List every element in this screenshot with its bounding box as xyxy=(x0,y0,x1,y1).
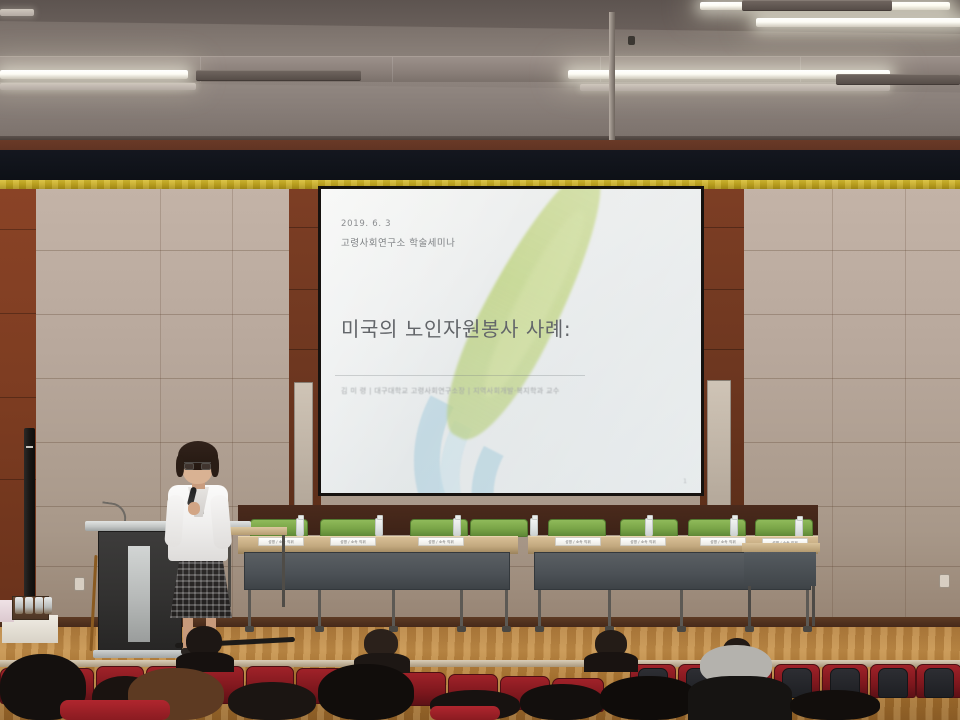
side-desk-panel xyxy=(744,552,816,586)
ceiling-vent xyxy=(196,70,361,81)
slide-surface: 2019. 6. 3 고령사회연구소 학술세미나 미국의 노인자원봉사 사례: … xyxy=(321,189,701,493)
ceiling-vent xyxy=(836,74,960,85)
presenter-hair xyxy=(211,455,219,477)
presenter-arm xyxy=(164,494,185,547)
water-bottle xyxy=(453,518,461,537)
slide-page-number: 1 xyxy=(683,478,687,485)
panel-chair xyxy=(755,519,813,537)
projection-screen: 2019. 6. 3 고령사회연구소 학술세미나 미국의 노인자원봉사 사례: … xyxy=(318,186,704,496)
slide-event-name: 고령사회연구소 학술세미나 xyxy=(341,235,455,249)
presenter-hair xyxy=(176,455,184,477)
auditorium-photo: 2019. 6. 3 고령사회연구소 학술세미나 미국의 노인자원봉사 사례: … xyxy=(0,0,960,720)
ceiling-light-fixture xyxy=(0,83,196,90)
slide-divider xyxy=(335,375,585,376)
panel-chair xyxy=(548,519,606,537)
podium-front-panel xyxy=(128,546,150,642)
podium-base xyxy=(93,650,187,658)
presenter-skirt xyxy=(170,556,232,618)
name-placard: 성명 / 소속 직위 xyxy=(620,537,666,546)
water-bottle xyxy=(375,518,383,537)
slide-title: 미국의 노인자원봉사 사례: xyxy=(341,313,571,342)
slide-byline: 김 미 령 | 대구대학교 고령사회연구소장 | 지역사회개발·복지학과 교수 xyxy=(341,386,560,396)
water-bottle xyxy=(645,518,653,537)
pa-speaker-tower xyxy=(24,428,35,614)
name-placard: 성명 / 소속 직위 xyxy=(555,537,601,546)
eyeglasses-icon xyxy=(184,462,211,469)
presenter-hand xyxy=(188,502,200,515)
name-placard: 성명 / 소속 직위 xyxy=(258,537,304,546)
side-desk xyxy=(742,543,820,552)
panel-chair xyxy=(320,519,378,537)
wall-outlet-icon xyxy=(939,574,950,588)
ceiling-light-fixture xyxy=(580,84,890,91)
water-bottle xyxy=(730,518,738,537)
panel-chair xyxy=(470,519,528,537)
black-stage-curtain xyxy=(0,150,960,182)
speaker-led-indicator xyxy=(26,446,33,448)
name-placard: 성명 / 소속 직위 xyxy=(418,537,464,546)
podium-side-table xyxy=(225,527,287,535)
column-light-strip xyxy=(294,382,313,506)
water-bottle xyxy=(530,518,538,537)
name-placard: 성명 / 소속 직위 xyxy=(330,537,376,546)
ceiling-light-fixture xyxy=(0,9,34,16)
ceiling-vent xyxy=(742,0,892,11)
water-bottle xyxy=(296,518,304,537)
ceiling-sensor-icon xyxy=(628,36,635,45)
column-light-strip xyxy=(707,380,731,508)
wall-outlet-icon xyxy=(74,577,85,591)
name-placard: 성명 / 소속 직위 xyxy=(700,537,746,546)
slide-date: 2019. 6. 3 xyxy=(341,219,391,229)
ceiling-light-fixture xyxy=(0,70,188,79)
ceiling-light-fixture xyxy=(756,18,960,27)
